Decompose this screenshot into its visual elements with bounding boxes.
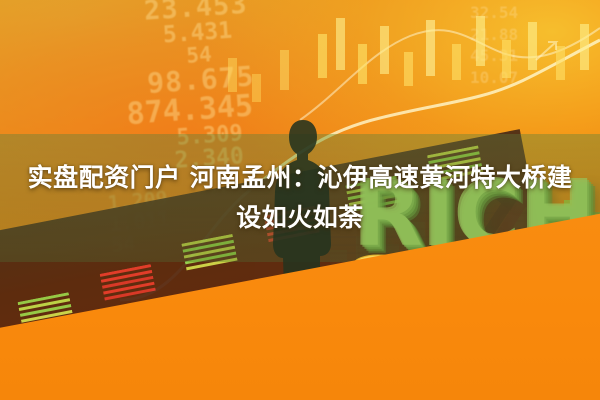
small-arrow-icon [536,42,556,60]
candlestick-group [228,16,589,102]
headline-line-2: 设如火如荼 [18,198,582,238]
headline-line-1: 实盘配资门户 河南孟州：沁伊高速黄河特大桥建 [18,158,582,198]
page-title: 实盘配资门户 河南孟州：沁伊高速黄河特大桥建 设如火如荼 [18,158,582,238]
thumbnail-canvas: 23.453 5.431 54 98.675 874.345 5.309 2.3… [0,0,600,400]
